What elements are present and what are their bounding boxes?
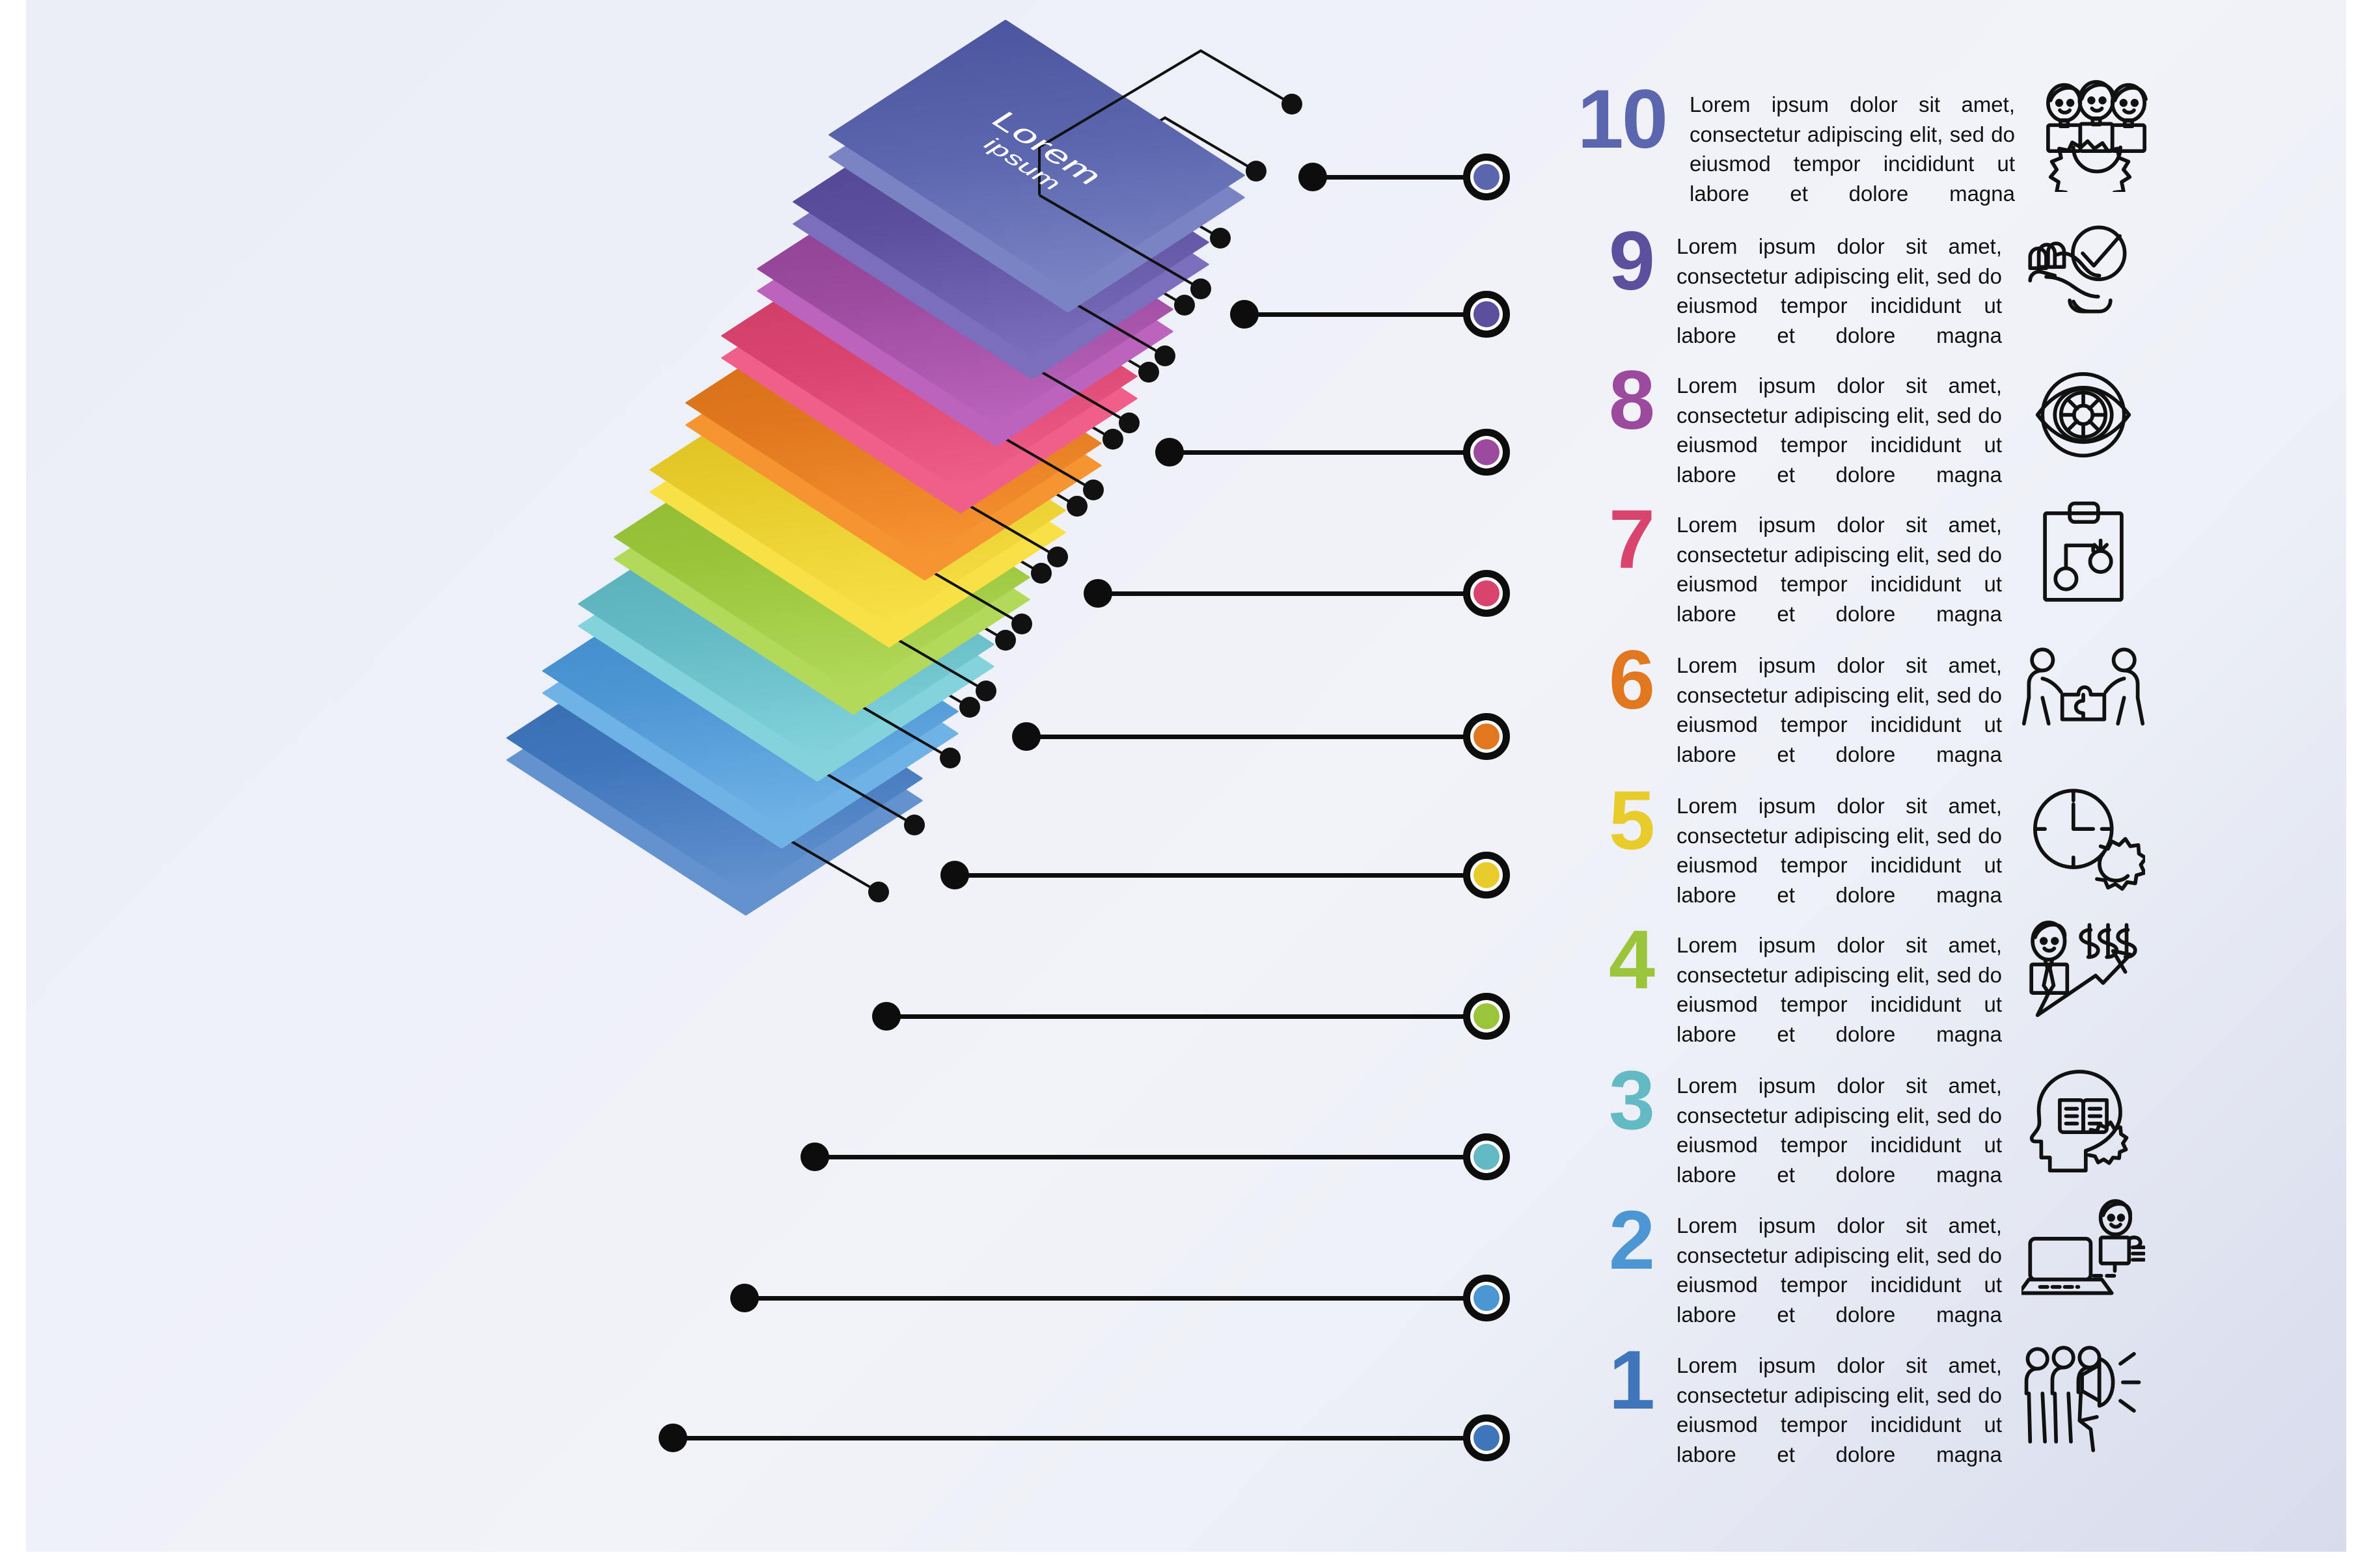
connector-end-marker[interactable] [1463,852,1510,899]
connector-line [886,1014,1471,1019]
connector-end-marker[interactable] [1463,1414,1510,1461]
legend-row-step-8[interactable]: 8Lorem ipsum dolor sit amet, consectetur… [1555,359,2145,489]
marker-fill [1473,1003,1499,1029]
connector-origin-dot [801,1142,829,1171]
legend-row-step-5[interactable]: 5Lorem ipsum dolor sit amet, consectetur… [1555,779,2145,910]
connector-origin-dot [1230,300,1259,329]
head-knowledge-icon [2021,1059,2145,1173]
step-number: 9 [1555,220,1653,303]
marker-fill [1473,301,1499,327]
legend-row-step-9[interactable]: 9Lorem ipsum dolor sit amet, consectetur… [1555,220,2145,350]
connector-origin-dot [730,1284,759,1312]
connector-end-marker[interactable] [1463,993,1510,1040]
clock-gear-icon [2021,779,2145,893]
connector-end-marker[interactable] [1463,291,1510,338]
step-number: 7 [1555,498,1653,582]
legend-row-step-2[interactable]: 2Lorem ipsum dolor sit amet, consectetur… [1555,1199,2145,1329]
step-number: 2 [1555,1199,1653,1282]
money-growth-icon [2021,919,2145,1033]
connector-line [745,1296,1471,1301]
connector-line [1244,312,1471,317]
connector-line [955,873,1471,878]
connector-line [1313,175,1471,180]
connector-line [1170,450,1471,455]
legend-row-step-1[interactable]: 1Lorem ipsum dolor sit amet, consectetur… [1555,1339,2145,1469]
connector-line [673,1436,1471,1440]
legend-row-step-3[interactable]: 3Lorem ipsum dolor sit amet, consectetur… [1555,1059,2145,1189]
marker-fill [1473,1144,1499,1170]
connector-origin-dot [872,1002,901,1031]
step-number: 1 [1555,1339,1653,1422]
legend-row-step-7[interactable]: 7Lorem ipsum dolor sit amet, consectetur… [1555,498,2145,629]
tile-label-line1: Lorem [985,108,1110,189]
step-number: 8 [1555,359,1653,442]
marker-fill [1473,164,1499,190]
connector-end-marker[interactable] [1463,154,1510,200]
connector-line [815,1155,1471,1159]
connector-end-marker[interactable] [1463,1275,1510,1321]
step-description: Lorem ipsum dolor sit amet, consectetur … [1677,1211,2002,1329]
connector-origin-dot [1155,438,1184,466]
marker-fill [1473,723,1499,750]
connector-end-marker[interactable] [1463,570,1510,617]
connector-end-marker[interactable] [1463,1133,1510,1180]
step-number: 6 [1555,639,1653,722]
step-description: Lorem ipsum dolor sit amet, consectetur … [1677,651,2002,769]
step-description: Lorem ipsum dolor sit amet, consectetur … [1677,1351,2002,1469]
connector-origin-dot [940,861,969,889]
legend-row-step-6[interactable]: 6Lorem ipsum dolor sit amet, consectetur… [1555,639,2145,769]
step-number: 4 [1555,919,1653,1002]
megaphone-crowd-icon [2021,1339,2145,1453]
step-description: Lorem ipsum dolor sit amet, consectetur … [1677,232,2002,350]
tile-label-line2: ipsum [979,135,1068,193]
legend-row-step-4[interactable]: 4Lorem ipsum dolor sit amet, consectetur… [1555,919,2145,1049]
step-number: 5 [1555,779,1653,863]
connector-end-marker[interactable] [1463,713,1510,760]
connector-origin-dot [1012,722,1041,751]
step-description: Lorem ipsum dolor sit amet, consectetur … [1677,510,2002,629]
connector-line [1026,735,1471,739]
eye-vision-icon [2021,359,2145,473]
step-description: Lorem ipsum dolor sit amet, consectetur … [1677,371,2002,489]
step-number: 3 [1555,1059,1653,1142]
team-gear-icon [2034,78,2158,192]
marker-fill [1473,580,1499,606]
step-number: 10 [1555,78,1666,161]
marker-fill [1473,862,1499,888]
step-description: Lorem ipsum dolor sit amet, consectetur … [1690,90,2015,208]
clipboard-flow-icon [2021,498,2145,612]
infographic-canvas: LoremipsumLoremipsumLoremipsumLoremipsum… [0,0,2369,1568]
connector-origin-dot [1298,163,1327,191]
marker-fill [1473,1285,1499,1311]
connector-origin-dot [1084,579,1112,608]
laptop-presenter-icon [2021,1199,2145,1313]
teamwork-puzzle-icon [2021,639,2145,753]
connector-line [1098,591,1471,596]
connector-origin-dot [659,1424,687,1452]
step-description: Lorem ipsum dolor sit amet, consectetur … [1677,791,2002,910]
legend-row-step-10[interactable]: 10Lorem ipsum dolor sit amet, consectetu… [1555,78,2158,208]
marker-fill [1473,1425,1499,1451]
step-description: Lorem ipsum dolor sit amet, consectetur … [1677,930,2002,1049]
connector-end-marker[interactable] [1463,429,1510,476]
step-description: Lorem ipsum dolor sit amet, consectetur … [1677,1071,2002,1189]
hand-check-icon [2021,220,2145,334]
marker-fill [1473,439,1499,465]
